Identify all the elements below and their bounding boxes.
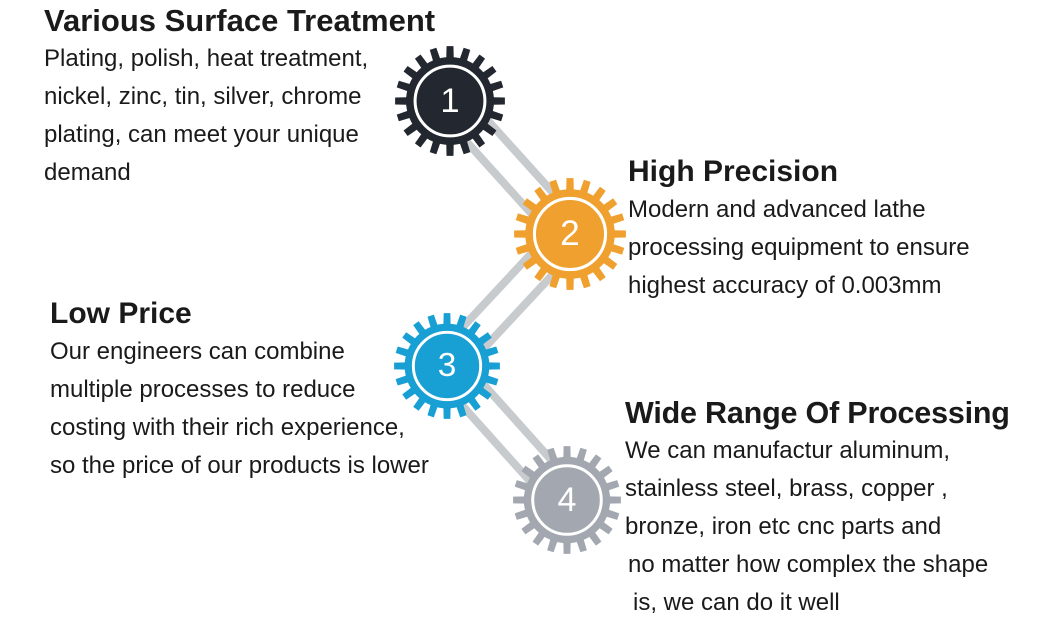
gear-icon — [513, 446, 621, 554]
body-line: no matter how complex the shape — [625, 546, 1010, 584]
feature-title: High Precision — [628, 155, 970, 189]
body-line: plating, can meet your unique — [44, 116, 435, 154]
body-line: is, we can do it well — [625, 584, 1010, 622]
body-line: nickel, zinc, tin, silver, chrome — [44, 78, 435, 116]
gear-node-3[interactable]: 3 — [394, 313, 500, 419]
body-line: bronze, iron etc cnc parts and — [625, 508, 1010, 546]
body-line: We can manufactur aluminum, — [625, 432, 1010, 470]
body-line: Modern and advanced lathe — [628, 191, 970, 229]
body-line: stainless steel, brass, copper , — [625, 470, 1010, 508]
gear-icon — [395, 46, 505, 156]
feature-body: We can manufactur aluminum, stainless st… — [625, 432, 1010, 622]
gear-node-2[interactable]: 2 — [514, 178, 626, 290]
feature-body: Plating, polish, heat treatment, nickel,… — [44, 40, 435, 192]
body-line: demand — [44, 154, 435, 192]
feature-body: Modern and advanced lathe processing equ… — [628, 191, 970, 305]
infographic-canvas: 1 2 3 4 Various Surface Treatment Platin… — [0, 0, 1060, 643]
body-line: costing with their rich experience, — [50, 409, 429, 447]
body-line: Plating, polish, heat treatment, — [44, 40, 435, 78]
feature-block-wide-range-of-processing: Wide Range Of Processing We can manufact… — [625, 396, 1010, 622]
body-line: Our engineers can combine — [50, 333, 429, 371]
gear-node-4[interactable]: 4 — [513, 446, 621, 554]
feature-block-low-price: Low Price Our engineers can combine mult… — [50, 297, 429, 485]
feature-title: Low Price — [50, 297, 429, 331]
gear-icon — [514, 178, 626, 290]
body-line: processing equipment to ensure — [628, 229, 970, 267]
body-line: multiple processes to reduce — [50, 371, 429, 409]
body-line: highest accuracy of 0.003mm — [628, 267, 970, 305]
body-line: so the price of our products is lower — [50, 447, 429, 485]
gear-node-1[interactable]: 1 — [395, 46, 505, 156]
feature-body: Our engineers can combine multiple proce… — [50, 333, 429, 485]
feature-block-high-precision: High Precision Modern and advanced lathe… — [628, 155, 970, 305]
feature-title: Various Surface Treatment — [44, 4, 435, 38]
feature-title: Wide Range Of Processing — [625, 396, 1010, 430]
gear-icon — [394, 313, 500, 419]
feature-block-various-surface-treatment: Various Surface Treatment Plating, polis… — [44, 4, 435, 192]
